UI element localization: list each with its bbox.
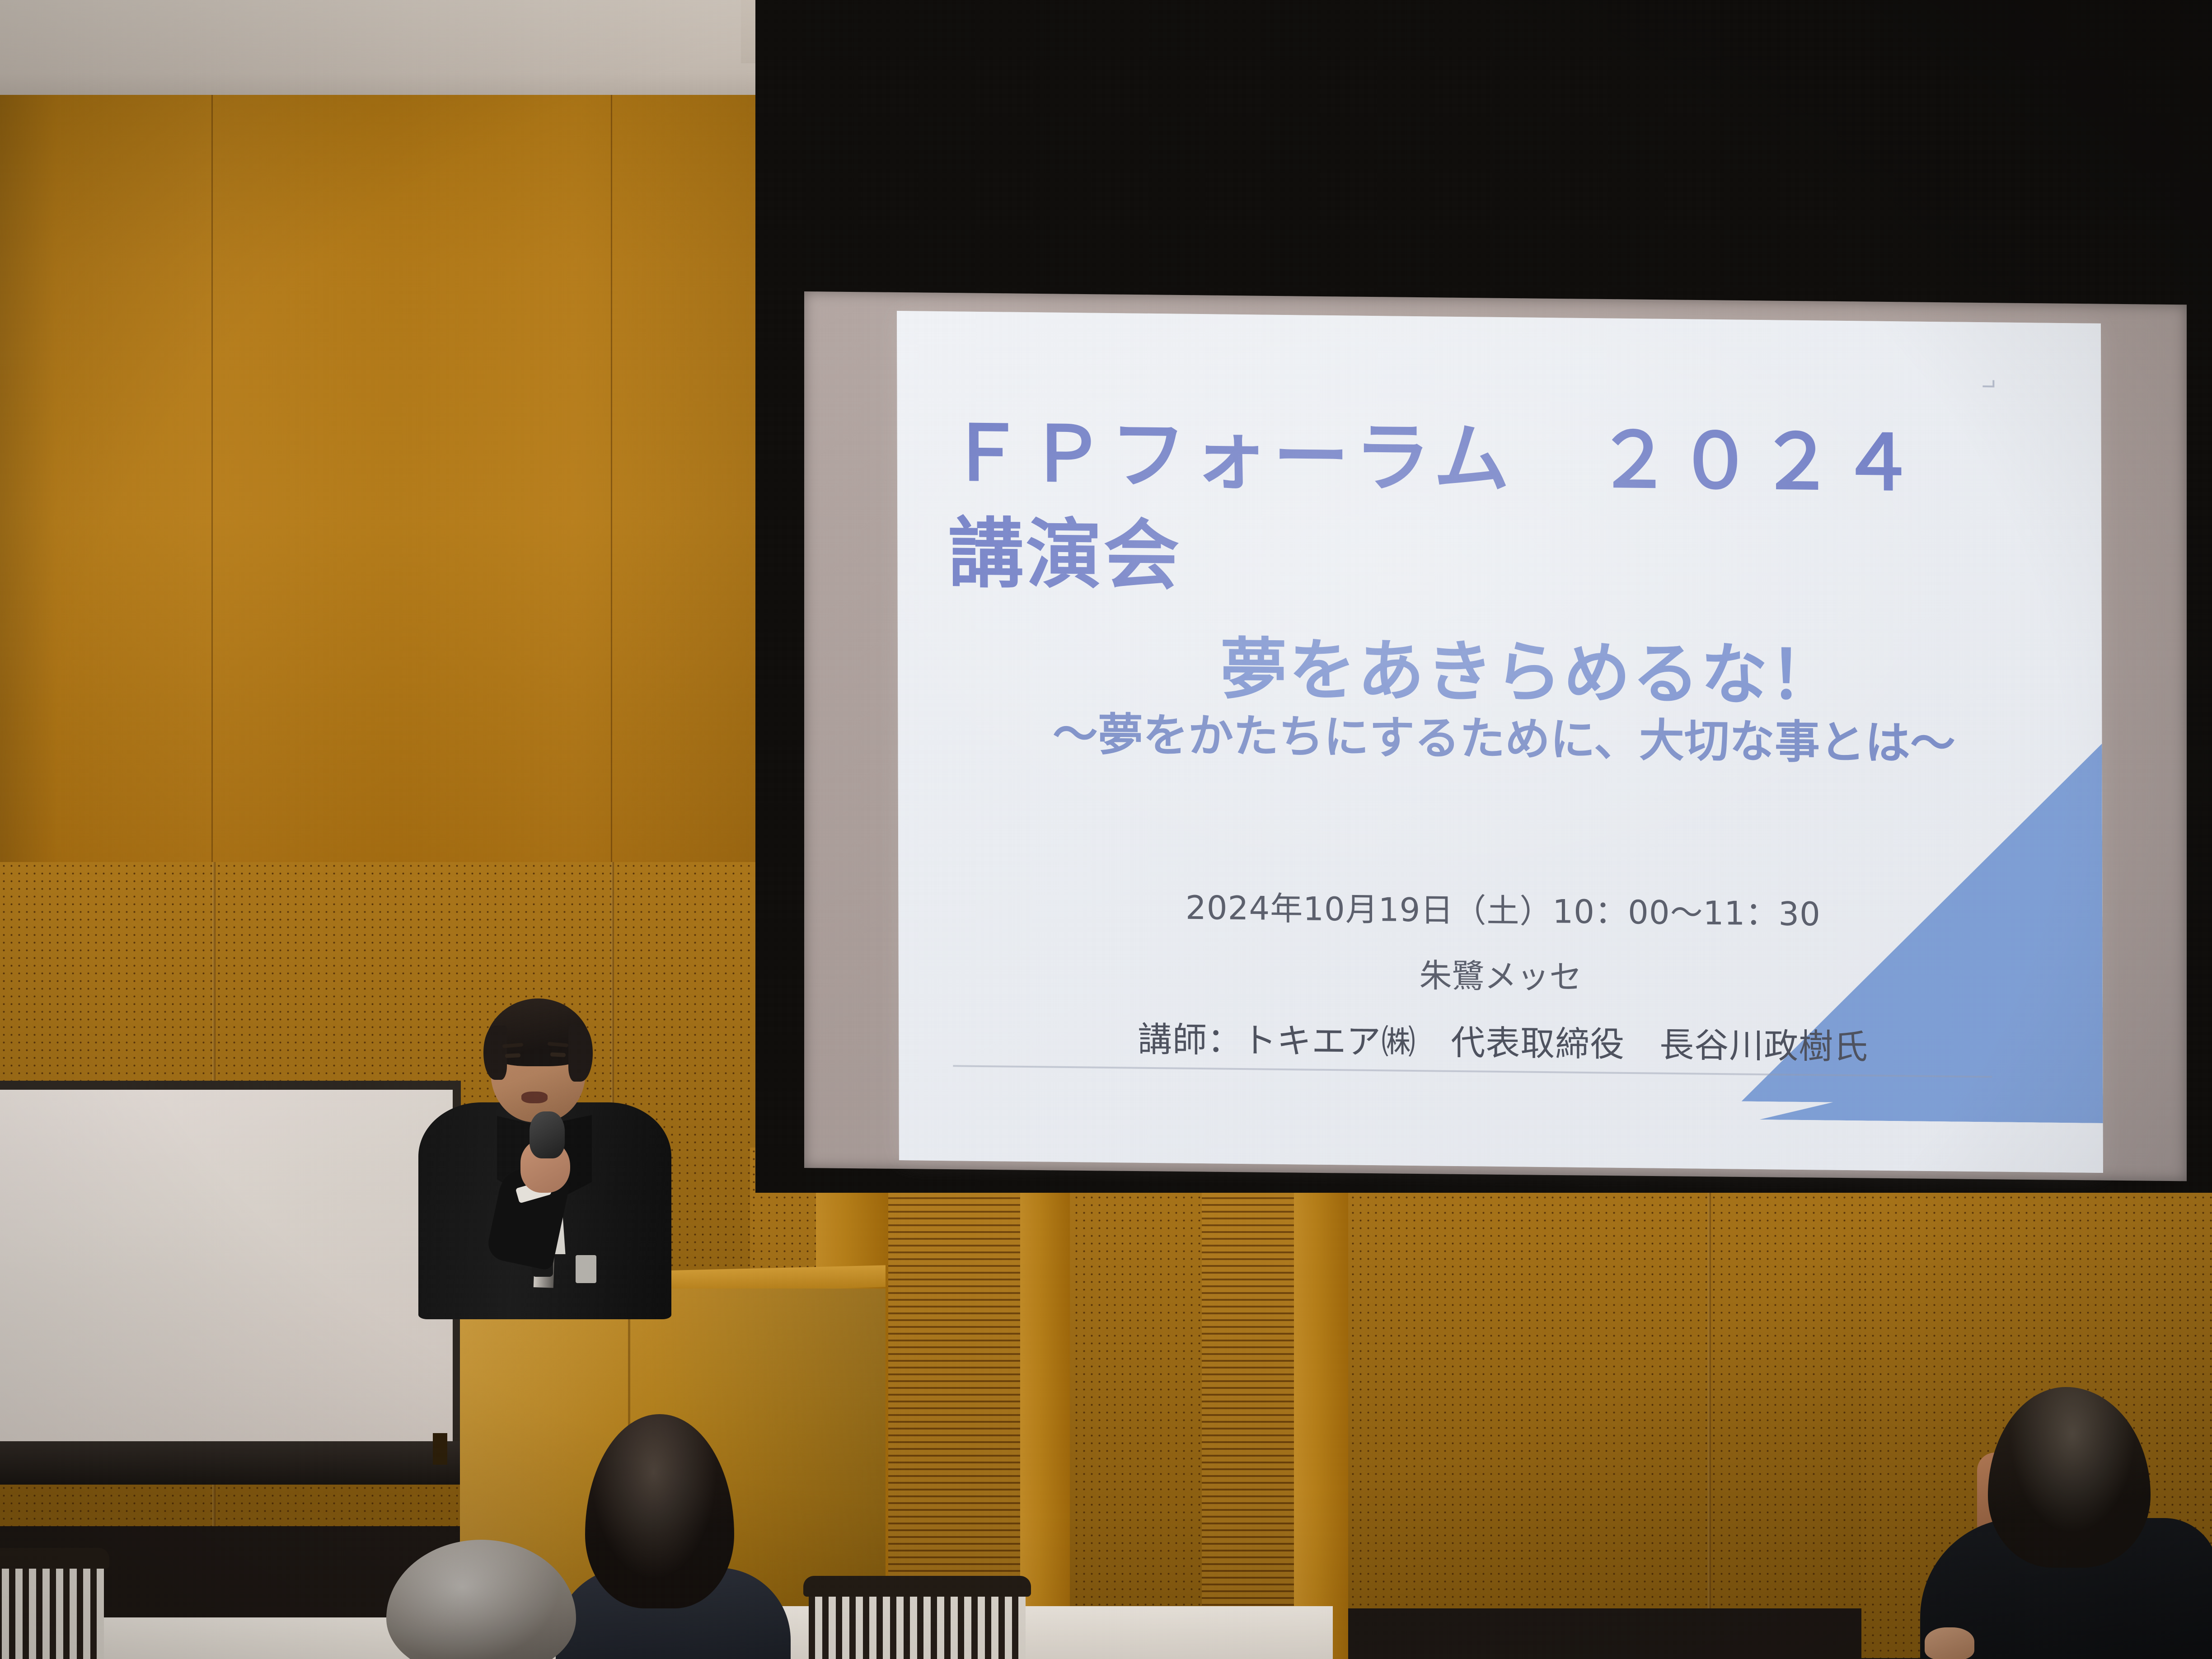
chair-slats [809,1588,1026,1659]
audience-right-hand [1925,1627,1974,1659]
wall-seam [611,95,612,867]
chair-top-rail [0,1548,109,1569]
slide-venue: 朱鷺メッセ [899,943,2103,1003]
microphone-head-icon [530,1111,565,1158]
wall-stile [1294,1157,1348,1659]
projected-slide: ＦＰフォーラム ２０２４ 講演会 夢をあきらめるな！ ～夢をかたちにするために、… [897,311,2103,1173]
chair-top-rail [803,1576,1031,1597]
slide-subheading: ～夢をかたちにするために、大切な事とは～ [898,696,2102,774]
wall-panel-smooth [0,95,800,867]
ceiling [0,0,795,105]
speaker-eye-right [550,1052,566,1057]
secondary-white-screen-surface [0,1090,453,1442]
chair-back-left [0,1560,104,1659]
slide-corner-mark-icon [1982,380,1994,387]
projected-slide-surface: ＦＰフォーラム ２０２４ 講演会 夢をあきらめるな！ ～夢をかたちにするために、… [897,311,2103,1173]
photo-scene: ＦＰフォーラム ２０２４ 講演会 夢をあきらめるな！ ～夢をかたちにするために、… [0,0,2212,1659]
wall-ribbed-block [1202,1157,1297,1658]
chair-slats [0,1560,104,1659]
wall-seam [1708,1148,1711,1608]
chair-back-center [809,1588,1026,1659]
speaker-mouth [521,1092,548,1103]
slide-title-line2: 講演会 [948,492,1181,604]
secondary-white-screen [0,1081,461,1451]
slide-datetime: 2024年10月19日（土）10：00～11：30 [898,878,2102,938]
wall-seam [211,95,213,867]
lectern-side-slot [433,1433,447,1465]
wall-ribbed-block [886,1157,1022,1636]
slide-text-block: ＦＰフォーラム ２０２４ 講演会 夢をあきらめるな！ ～夢をかたちにするために、… [897,311,2103,1173]
secondary-white-screen-rail [0,1441,461,1485]
speaker-lanyard-badge [576,1255,596,1283]
speaker-hair-side-right [568,1025,593,1082]
speaker-hair-side-left [483,1026,507,1080]
speaker-eye-left [505,1053,520,1058]
slide-speaker-line: 講師：トキエア㈱ 代表取締役 長谷川政樹氏 [899,1009,2103,1071]
speaker-at-podium [407,971,696,1315]
